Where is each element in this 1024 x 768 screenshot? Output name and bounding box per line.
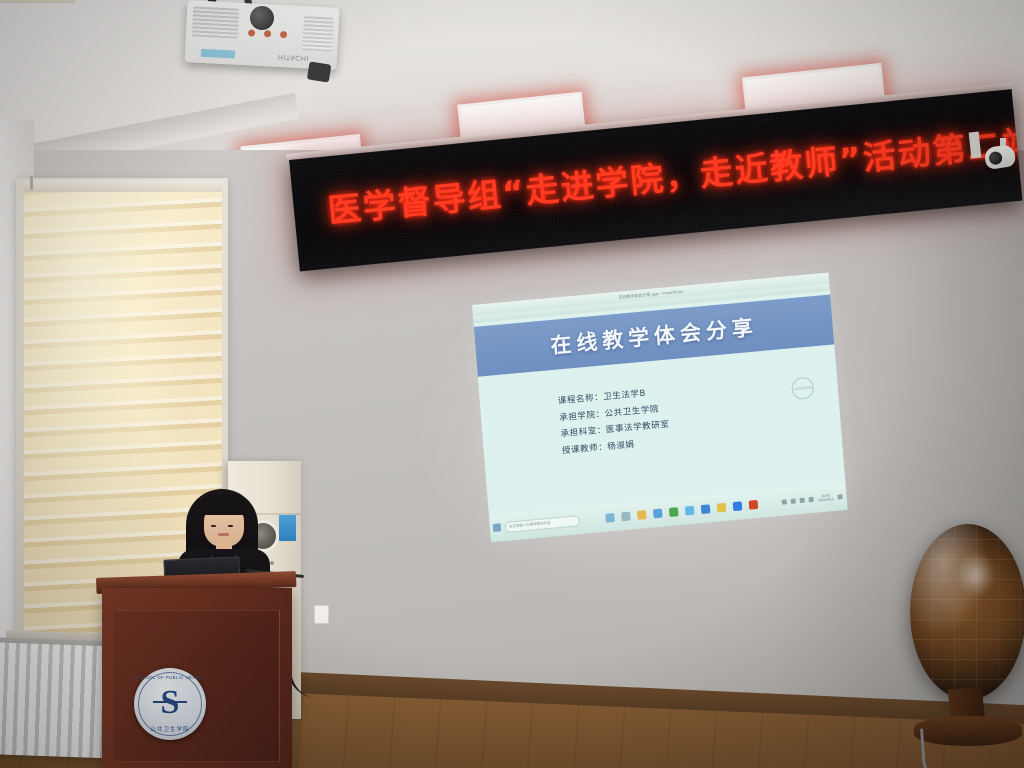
globe-sphere — [910, 524, 1024, 700]
network-icon[interactable] — [791, 498, 796, 503]
taskbar-search-input[interactable]: 在这里输入你要搜索的内容 — [504, 515, 580, 533]
power-cable — [288, 598, 317, 698]
slide-title: 在线教学体会分享 — [549, 311, 759, 360]
start-button-icon[interactable] — [493, 523, 502, 532]
projector-lens-icon — [307, 61, 332, 82]
projected-screen: 在线教学体会分享.pptx - PowerPoint 在线教学体会分享 课程名称… — [472, 273, 848, 543]
qq-icon[interactable] — [685, 505, 695, 515]
decorative-globe — [908, 520, 1024, 768]
file-explorer-icon[interactable] — [637, 510, 647, 520]
projector-sticker — [201, 49, 235, 59]
air-conditioner-top — [0, 0, 75, 3]
projector-mount-knob — [250, 6, 274, 30]
emblem-english-text: SCHOOL OF PUBLIC HEALTH — [134, 675, 206, 680]
slide: 在线教学体会分享 课程名称：卫生法学B 承担学院：公共卫生学院 承担科室：医事法… — [473, 290, 845, 514]
taskbar-system-tray[interactable]: 10:42 2022/4/12 — [782, 491, 847, 506]
emblem-chinese-text: 公共卫生学院 — [134, 725, 206, 733]
projector-status-leds — [248, 29, 292, 39]
chevron-up-icon[interactable] — [782, 499, 787, 504]
taskbar-clock[interactable]: 10:42 2022/4/12 — [818, 493, 834, 503]
clock-date: 2022/4/12 — [818, 497, 834, 503]
slide-seal-watermark: 公共卫生学院 — [791, 376, 815, 400]
chair-leg — [920, 723, 999, 768]
projector-vent-right-icon — [302, 16, 334, 52]
powerpoint-icon[interactable] — [749, 499, 759, 509]
projector-vent-icon — [192, 6, 240, 38]
presenter-mouth — [218, 533, 229, 536]
presenter-fringe — [200, 495, 248, 515]
meeting-icon[interactable] — [733, 501, 743, 511]
browser-icon[interactable] — [653, 508, 663, 518]
notes-icon[interactable] — [717, 502, 727, 512]
projector-brand-label: HITACHI — [278, 53, 309, 62]
cortana-icon[interactable] — [605, 512, 615, 522]
lecture-hall-photo: HITACHI 在线教学体会分享.pptx - PowerPoint 在线教学体… — [0, 0, 1024, 768]
wechat-icon[interactable] — [669, 507, 679, 517]
blind-cord[interactable] — [30, 176, 33, 190]
volume-icon[interactable] — [800, 497, 805, 502]
school-emblem: SCHOOL OF PUBLIC HEALTH S 公共卫生学院 — [134, 668, 206, 740]
show-desktop-icon[interactable] — [837, 494, 842, 499]
task-view-icon[interactable] — [621, 511, 631, 521]
podium: SCHOOL OF PUBLIC HEALTH S 公共卫生学院 — [102, 588, 292, 768]
mail-icon[interactable] — [701, 504, 711, 514]
blind-headrail — [24, 180, 222, 192]
slide-body: 课程名称：卫生法学B 承担学院：公共卫生学院 承担科室：医事法学教研室 授课教师… — [557, 372, 801, 460]
taskbar-icons[interactable] — [605, 499, 758, 522]
battery-icon[interactable] — [809, 496, 814, 501]
